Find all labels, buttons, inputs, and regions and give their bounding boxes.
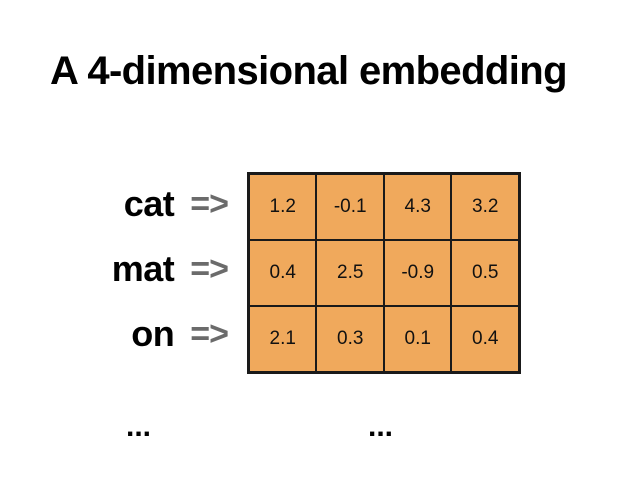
word-label-on: on [131, 316, 174, 352]
ellipsis-matrix: ... [368, 412, 393, 442]
matrix-cell: 4.3 [384, 174, 452, 241]
word-label-column: cat => mat => on => [0, 172, 228, 366]
matrix-cell: -0.9 [384, 240, 452, 306]
arrow-icon-cat: => [190, 187, 228, 221]
word-label-mat: mat [112, 251, 175, 287]
word-row-mat: mat => [0, 237, 228, 302]
matrix-cell: 2.1 [249, 306, 317, 373]
embedding-figure: cat => mat => on => 1.2 -0.1 4.3 3.2 0.4… [0, 172, 638, 366]
matrix-cell: 2.5 [316, 240, 384, 306]
matrix-cell: 0.4 [249, 240, 317, 306]
table-row: 2.1 0.3 0.1 0.4 [249, 306, 520, 373]
word-row-on: on => [0, 301, 228, 366]
ellipsis-words: ... [126, 412, 151, 442]
arrow-icon-on: => [190, 317, 228, 351]
matrix-cell: 3.2 [451, 174, 519, 241]
matrix-cell: 0.1 [384, 306, 452, 373]
matrix-cell: 1.2 [249, 174, 317, 241]
table-row: 1.2 -0.1 4.3 3.2 [249, 174, 520, 241]
matrix-cell: 0.5 [451, 240, 519, 306]
arrow-icon-mat: => [190, 252, 228, 286]
matrix-cell: 0.4 [451, 306, 519, 373]
matrix-cell: -0.1 [316, 174, 384, 241]
table-row: 0.4 2.5 -0.9 0.5 [249, 240, 520, 306]
word-label-cat: cat [124, 186, 175, 222]
embedding-matrix: 1.2 -0.1 4.3 3.2 0.4 2.5 -0.9 0.5 2.1 0.… [247, 172, 521, 374]
page-title: A 4-dimensional embedding [50, 48, 600, 94]
matrix-cell: 0.3 [316, 306, 384, 373]
word-row-cat: cat => [0, 172, 228, 237]
